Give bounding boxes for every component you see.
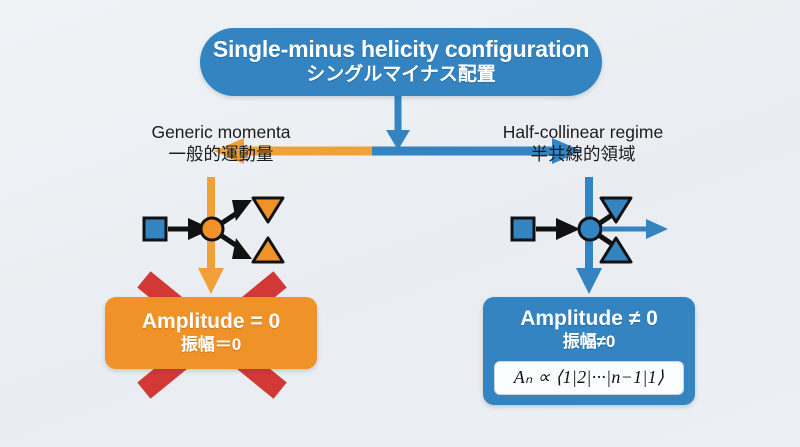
main-title-ja: シングルマイナス配置: [306, 63, 496, 87]
right-vertex-dot: [579, 218, 601, 240]
main-title-en: Single-minus helicity configuration: [213, 37, 589, 61]
main-title-pill: Single-minus helicity configuration シングル…: [200, 28, 602, 96]
branch-label-left-ja: 一般的運動量: [116, 144, 326, 165]
amplitude-formula-text: Aₙ ∝ ⟨1|2|···|n−1|1⟩: [514, 367, 665, 388]
branch-label-left-en: Generic momenta: [116, 122, 326, 143]
left-out-lower-head: [232, 238, 252, 259]
result-left-ja: 振幅＝0: [181, 335, 241, 355]
branch-label-right-en: Half-collinear regime: [472, 122, 694, 143]
result-box-right: Amplitude ≠ 0 振幅≠0 Aₙ ∝ ⟨1|2|···|n−1|1⟩: [483, 297, 695, 405]
left-out-upper-head: [232, 200, 252, 221]
left-outgoing-triangle-up: [253, 238, 283, 262]
right-arrow-head: [576, 268, 602, 294]
branch-label-left: Generic momenta 一般的運動量: [116, 122, 326, 164]
result-box-left: Amplitude = 0 振幅＝0: [105, 297, 317, 369]
right-incoming-square: [512, 218, 534, 240]
left-incoming-square: [144, 218, 166, 240]
amplitude-formula-chip: Aₙ ∝ ⟨1|2|···|n−1|1⟩: [494, 361, 684, 395]
result-right-en: Amplitude ≠ 0: [520, 307, 658, 331]
result-left-en: Amplitude = 0: [142, 310, 280, 334]
branch-label-right: Half-collinear regime 半共線的領域: [472, 122, 694, 164]
diagram-canvas: Single-minus helicity configuration シングル…: [0, 0, 800, 447]
left-vertex-dot: [201, 218, 223, 240]
left-arrow-head: [198, 268, 224, 294]
right-collinear-arrow-head: [646, 219, 668, 239]
right-incoming-arrow-head: [556, 218, 580, 240]
result-right-ja: 振幅≠0: [563, 332, 616, 352]
branch-label-right-ja: 半共線的領域: [472, 144, 694, 165]
left-outgoing-triangle-down: [253, 198, 283, 222]
